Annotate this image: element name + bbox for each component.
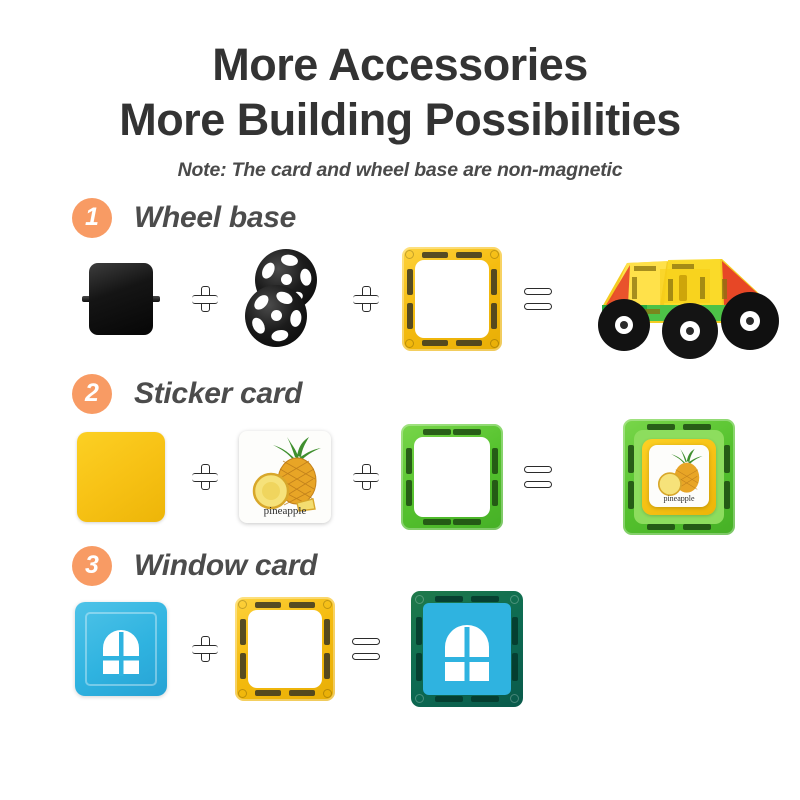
pineapple-sticker-card: pineapple <box>230 431 340 523</box>
window-icon <box>75 602 167 696</box>
assembled-car <box>564 239 794 359</box>
card-label: pineapple <box>239 505 331 517</box>
assembled-window-tile <box>392 591 542 707</box>
step-2-label: Sticker card <box>134 377 302 411</box>
equals-operator-icon <box>512 288 564 310</box>
plus-operator-icon <box>180 464 230 490</box>
step-row-sticker-card: 2 Sticker card <box>0 374 800 540</box>
green-square-tile <box>392 424 512 530</box>
step-2-items: pineapple <box>0 414 800 540</box>
disclaimer-note: Note: The card and wheel base are non-ma… <box>0 159 800 182</box>
equals-operator-icon <box>340 638 392 660</box>
step-1-label: Wheel base <box>134 201 296 235</box>
step-2-badge: 2 <box>72 374 112 414</box>
step-3-header: 3 Window card <box>0 546 800 586</box>
step-3-items <box>0 586 800 712</box>
assembled-car-graphic <box>572 239 787 359</box>
page-title-line-1: More Accessories <box>0 38 800 93</box>
plus-operator-icon <box>340 286 392 312</box>
wheel-base-chassis <box>62 263 180 335</box>
yellow-square-tile <box>392 247 512 351</box>
header: More Accessories More Building Possibili… <box>0 0 800 182</box>
yellow-plate <box>62 432 180 522</box>
step-2-header: 2 Sticker card <box>0 374 800 414</box>
assembled-sticker-tile: pineapple <box>564 419 794 535</box>
step-1-header: 1 Wheel base <box>0 198 800 238</box>
plus-operator-icon <box>180 286 230 312</box>
wheel-pair <box>230 249 340 349</box>
yellow-square-tile <box>230 597 340 701</box>
blue-window-card <box>62 602 180 696</box>
step-row-wheel-base: 1 Wheel base <box>0 198 800 360</box>
window-icon <box>411 591 523 707</box>
step-1-items <box>0 238 800 360</box>
inset-pineapple-card: pineapple <box>649 445 709 507</box>
card-label: pineapple <box>649 494 709 503</box>
steps-list: 1 Wheel base <box>0 198 800 712</box>
page-title-line-2: More Building Possibilities <box>0 93 800 148</box>
step-row-window-card: 3 Window card <box>0 546 800 712</box>
equals-operator-icon <box>512 466 564 488</box>
step-3-badge: 3 <box>72 546 112 586</box>
step-1-badge: 1 <box>72 198 112 238</box>
plus-operator-icon <box>340 464 392 490</box>
plus-operator-icon <box>180 636 230 662</box>
step-3-label: Window card <box>134 549 317 583</box>
